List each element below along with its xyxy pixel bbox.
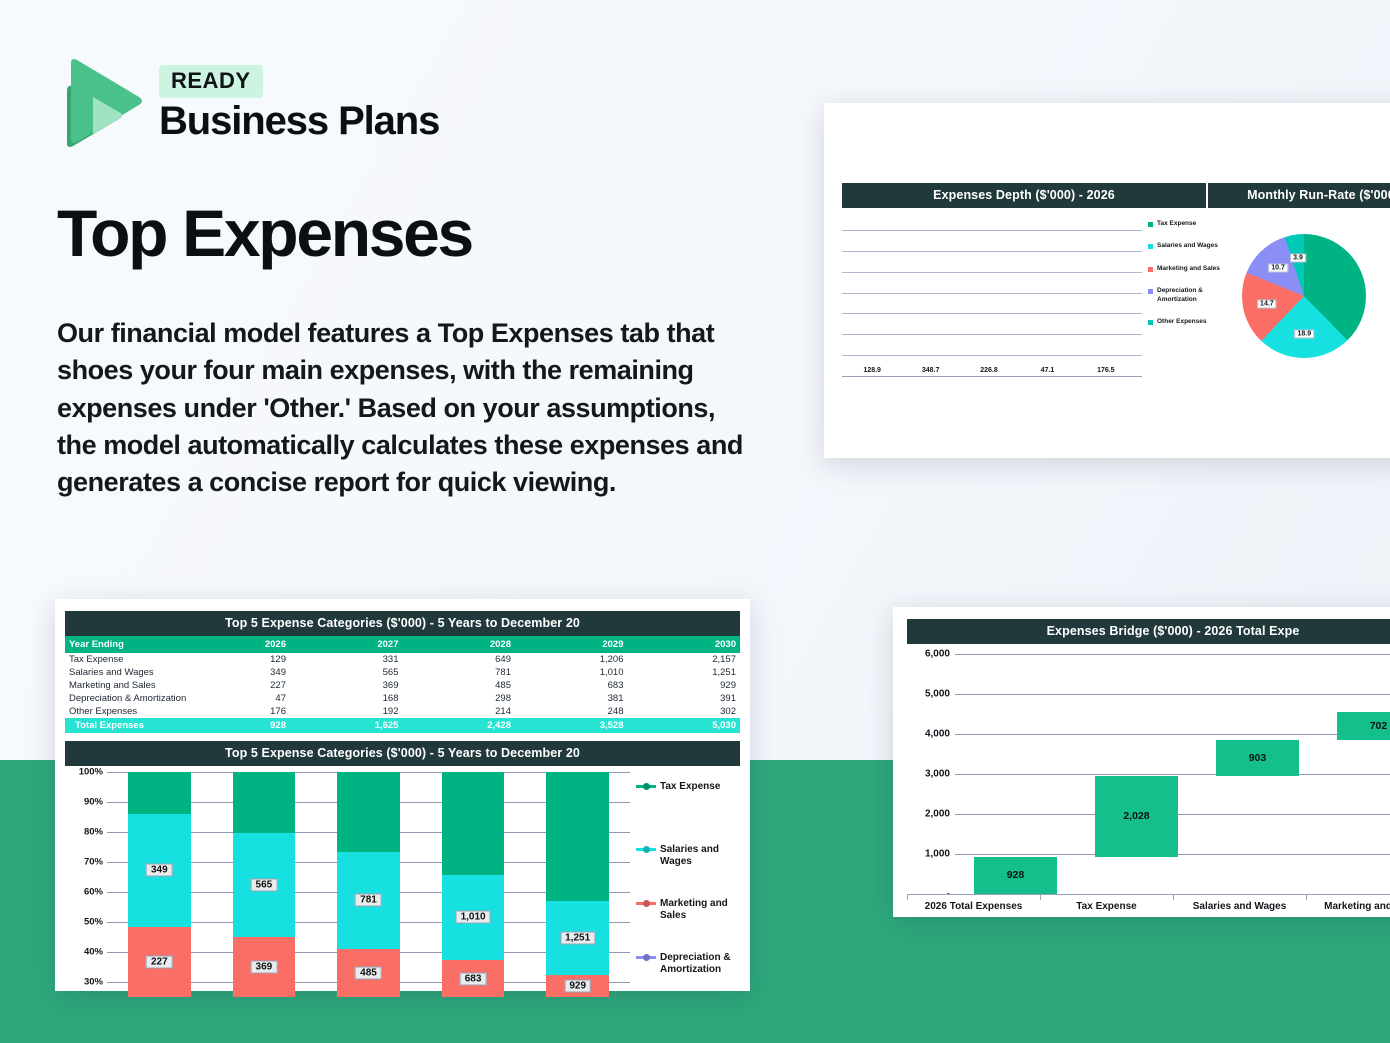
axis-tick-label: 60% (84, 887, 103, 898)
legend-item: Marketing and Sales (636, 898, 740, 921)
table-cell: Total Expenses (65, 718, 178, 733)
table-col-header: 2029 (515, 636, 628, 653)
expenses-depth-title: Expenses Depth ($'000) - 2026 (842, 183, 1208, 208)
legend-label: Salaries and Wages (1157, 242, 1218, 250)
legend-label: Depreciation & Amortization (1157, 287, 1234, 304)
stack-value-label: 227 (146, 955, 173, 968)
table-row: Marketing and Sales227369485683929 (65, 679, 740, 692)
table-cell: Tax Expense (65, 653, 178, 666)
legend-label: Tax Expense (1157, 220, 1196, 228)
stack-value-label: 683 (460, 972, 487, 985)
stack-value-label: 1,010 (456, 911, 491, 924)
axis-tick-label: 100% (79, 767, 103, 778)
axis-tick-label: Marketing and Sales (1306, 895, 1390, 912)
table-cell: 129 (178, 653, 291, 666)
legend-label: Tax Expense (660, 781, 720, 793)
page-title: Top Expenses (57, 200, 472, 266)
table-cell: 248 (515, 705, 628, 718)
pie-chart: 18.914.710.73.9 (1242, 234, 1366, 358)
waterfall-value-label: 903 (1249, 752, 1267, 764)
waterfall-x-labels: 2026 Total ExpensesTax ExpenseSalaries a… (907, 894, 1390, 912)
expenses-bridge-panel: Expenses Bridge ($'000) - 2026 Total Exp… (893, 607, 1390, 917)
table-cell: 176 (178, 705, 291, 718)
waterfall-column: 903 (1197, 654, 1318, 894)
chart-bars: 128.9348.7226.847.1176.5 (844, 230, 1134, 376)
table-cell: 2,157 (628, 653, 741, 666)
table-col-header: 2027 (290, 636, 403, 653)
table-col-header: 2028 (403, 636, 516, 653)
expenses-depth-panel: Expenses Depth ($'000) - 2026 Monthly Ru… (824, 103, 1390, 458)
axis-tick-mark (1173, 895, 1174, 900)
axis-tick-label: 30% (84, 977, 103, 988)
waterfall-columns: 9282,028903702 (955, 654, 1390, 894)
table-total-row: Total Expenses9281,6252,4283,5285,030 (65, 718, 740, 733)
monthly-run-rate-title: Monthly Run-Rate ($'000) - (1208, 183, 1390, 208)
table-header-row: Year Ending20262027202820292030 (65, 636, 740, 653)
table-cell: 928 (178, 718, 291, 733)
stack-segment (337, 772, 400, 852)
table-cell: 227 (178, 679, 291, 692)
legend-label: Marketing and Sales (660, 898, 740, 921)
stack-value-label: 369 (251, 961, 278, 974)
table-cell: Depreciation & Amortization (65, 692, 178, 705)
axis-tick-label: 4,000 (925, 728, 950, 739)
waterfall-bar: 928 (974, 857, 1056, 894)
table-cell: 369 (290, 679, 403, 692)
expenses-depth-chart: 128.9348.7226.847.1176.5 (842, 216, 1142, 388)
table-cell: 168 (290, 692, 403, 705)
legend-item: Salaries and Wages (636, 844, 740, 867)
table-cell: Other Expenses (65, 705, 178, 718)
waterfall-column: 2,028 (1076, 654, 1197, 894)
legend-item: Depreciation & Amortization (636, 952, 740, 975)
waterfall-bar: 903 (1216, 740, 1298, 776)
table-row: Tax Expense1293316491,2062,157 (65, 653, 740, 666)
stacked-columns: 3492275653697814851,0106831,251929 (107, 772, 630, 997)
expenses-bridge-chart: 6,0005,0004,0003,0002,0001,000- 9282,028… (907, 654, 1390, 894)
stack-value-label: 485 (355, 966, 382, 979)
table-col-header: 2030 (628, 636, 741, 653)
stacked-chart-y-axis: 100%90%80%70%60%50%40%30% (65, 772, 107, 997)
legend-label: Salaries and Wages (660, 844, 740, 867)
top5-table-title: Top 5 Expense Categories ($'000) - 5 Yea… (65, 611, 740, 636)
table-cell: 1,625 (290, 718, 403, 733)
table-cell: 214 (403, 705, 516, 718)
stacked-column: 565369 (212, 772, 317, 997)
axis-tick-label: Salaries and Wages (1173, 895, 1306, 912)
table-cell: 683 (515, 679, 628, 692)
table-cell: 331 (290, 653, 403, 666)
waterfall-y-axis: 6,0005,0004,0003,0002,0001,000- (907, 654, 955, 894)
page-description: Our financial model features a Top Expen… (57, 315, 757, 501)
table-cell: 649 (403, 653, 516, 666)
stack-segment (546, 772, 609, 901)
legend-swatch-icon (1148, 222, 1153, 227)
axis-tick-label: 70% (84, 857, 103, 868)
stacked-chart-legend: Tax ExpenseSalaries and WagesMarketing a… (630, 772, 740, 997)
chart-x-axis (842, 376, 1142, 377)
axis-tick-mark (907, 895, 908, 900)
table-cell: 1,206 (515, 653, 628, 666)
legend-swatch-icon (1148, 244, 1153, 249)
table-cell: 391 (628, 692, 741, 705)
pie-slice-label: 10.7 (1268, 264, 1288, 273)
bar-value-label: 176.5 (1078, 367, 1134, 374)
legend-item: Tax Expense (1148, 220, 1234, 228)
table-cell: 47 (178, 692, 291, 705)
legend-item: Tax Expense (636, 781, 720, 793)
table-cell: Marketing and Sales (65, 679, 178, 692)
table-cell: 298 (403, 692, 516, 705)
bar-value-label: 47.1 (1019, 367, 1075, 374)
waterfall-value-label: 702 (1370, 720, 1388, 732)
table-cell: 929 (628, 679, 741, 692)
monthly-run-rate-chart: 18.914.710.73.9 (1234, 208, 1390, 388)
legend-marker-icon (636, 902, 656, 905)
pie-slice-label: 14.7 (1257, 300, 1277, 309)
top5-expense-table: Year Ending20262027202820292030 Tax Expe… (65, 636, 740, 733)
table-cell: 3,528 (515, 718, 628, 733)
expenses-bridge-title: Expenses Bridge ($'000) - 2026 Total Exp… (907, 619, 1390, 644)
pie-slice-label: 18.9 (1294, 329, 1314, 338)
stack-value-label: 929 (564, 980, 591, 993)
table-cell: 349 (178, 666, 291, 679)
table-row: Depreciation & Amortization4716829838139… (65, 692, 740, 705)
table-col-header: 2026 (178, 636, 291, 653)
table-cell: 192 (290, 705, 403, 718)
waterfall-column: 928 (955, 654, 1076, 894)
brand-name: Business Plans (159, 100, 439, 142)
legend-item: Depreciation & Amortization (1148, 287, 1234, 304)
waterfall-plot: 9282,028903702 (955, 654, 1390, 894)
legend-label: Other Expenses (1157, 318, 1207, 326)
table-cell: 565 (290, 666, 403, 679)
pie-slice-label: 3.9 (1290, 254, 1306, 263)
stack-value-label: 565 (251, 879, 278, 892)
table-cell: 5,030 (628, 718, 741, 733)
axis-tick-label: 2,000 (925, 808, 950, 819)
waterfall-bar: 702 (1337, 712, 1390, 740)
waterfall-column: 702 (1318, 654, 1390, 894)
table-cell: Salaries and Wages (65, 666, 178, 679)
stacked-chart-plot: 3492275653697814851,0106831,251929 (107, 772, 630, 997)
legend-marker-icon (636, 956, 656, 959)
axis-tick-mark (1306, 895, 1307, 900)
stack-value-label: 349 (146, 864, 173, 877)
table-cell: 302 (628, 705, 741, 718)
top5-expense-categories-panel: Top 5 Expense Categories ($'000) - 5 Yea… (55, 599, 750, 991)
axis-tick-label: 90% (84, 797, 103, 808)
legend-item: Salaries and Wages (1148, 242, 1234, 250)
axis-tick-label: Tax Expense (1040, 895, 1173, 912)
legend-label: Marketing and Sales (1157, 265, 1220, 273)
stack-segment (128, 772, 191, 814)
legend-swatch-icon (1148, 320, 1153, 325)
stacked-column: 349227 (107, 772, 212, 997)
legend-swatch-icon (1148, 267, 1153, 272)
waterfall-bar: 2,028 (1095, 776, 1177, 857)
axis-tick-mark (1040, 895, 1041, 900)
axis-tick-label: 3,000 (925, 769, 950, 780)
stack-segment (442, 772, 505, 875)
table-cell: 781 (403, 666, 516, 679)
stacked-column: 1,010683 (421, 772, 526, 997)
axis-tick-label: 2026 Total Expenses (907, 895, 1040, 912)
axis-tick-label: 80% (84, 827, 103, 838)
stack-value-label: 781 (355, 894, 382, 907)
legend-label: Depreciation & Amortization (660, 952, 740, 975)
axis-tick-label: 5,000 (925, 688, 950, 699)
stacked-column: 781485 (316, 772, 421, 997)
waterfall-value-label: 928 (1007, 869, 1025, 881)
table-cell: 381 (515, 692, 628, 705)
top5-stacked-chart: 100%90%80%70%60%50%40%30% 34922756536978… (65, 772, 740, 997)
stack-value-label: 1,251 (560, 931, 595, 944)
bar-value-label: 226.8 (961, 367, 1017, 374)
legend-swatch-icon (1148, 289, 1153, 294)
table-cell: 485 (403, 679, 516, 692)
axis-tick-label: 40% (84, 947, 103, 958)
brand-logo: READY Business Plans (57, 57, 439, 149)
play-triangle-logo-icon (57, 57, 145, 149)
axis-tick-label: 1,000 (925, 849, 950, 860)
ready-badge: READY (159, 65, 263, 98)
top5-chart-title: Top 5 Expense Categories ($'000) - 5 Yea… (65, 741, 740, 766)
legend-item: Other Expenses (1148, 318, 1234, 326)
axis-tick-label: 50% (84, 916, 103, 927)
table-row: Other Expenses176192214248302 (65, 705, 740, 718)
stacked-column: 1,251929 (525, 772, 630, 997)
table-cell: 2,428 (403, 718, 516, 733)
waterfall-value-label: 2,028 (1123, 810, 1149, 822)
bar-value-label: 128.9 (844, 367, 900, 374)
stack-segment (233, 772, 296, 833)
legend-marker-icon (636, 848, 656, 851)
bar-value-label: 348.7 (902, 367, 958, 374)
legend-marker-icon (636, 785, 656, 788)
legend-item: Marketing and Sales (1148, 265, 1234, 273)
table-col-header: Year Ending (65, 636, 178, 653)
table-cell: 1,251 (628, 666, 741, 679)
table-row: Salaries and Wages3495657811,0101,251 (65, 666, 740, 679)
table-cell: 1,010 (515, 666, 628, 679)
axis-tick-label: 6,000 (925, 649, 950, 660)
expenses-depth-legend: Tax ExpenseSalaries and WagesMarketing a… (1142, 208, 1234, 388)
